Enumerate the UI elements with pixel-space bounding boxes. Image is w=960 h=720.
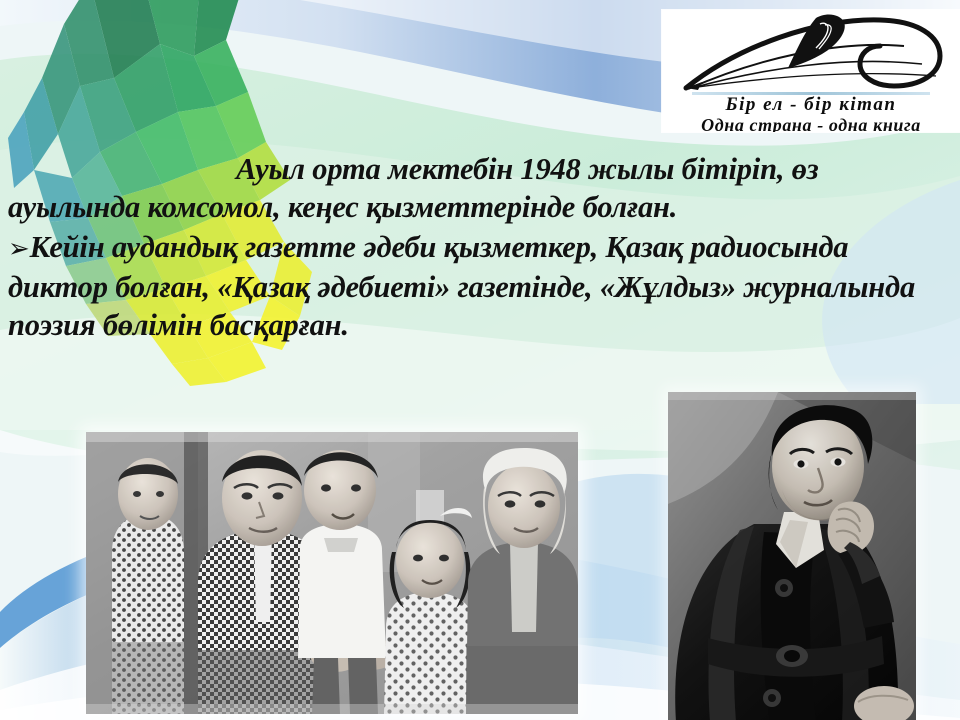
quill-feather-pen-icon — [668, 12, 954, 94]
bir-el-bir-kitap-logo: Бір ел - бір кітап Одна страна - одна кн… — [662, 10, 960, 132]
presentation-slide: Бір ел - бір кітап Одна страна - одна кн… — [0, 0, 960, 720]
arrow-bullet-icon: ➢ — [8, 234, 30, 263]
vintage-portrait-photograph — [668, 392, 916, 720]
paragraph-one: Ауыл орта мектебін 1948 жылы бітіріп, өз… — [8, 150, 938, 226]
slide-body-text: Ауыл орта мектебін 1948 жылы бітіріп, өз… — [8, 150, 938, 344]
vintage-family-photograph: www.k-tik.kz — [86, 432, 578, 714]
logo-text-russian: Одна страна - одна книга — [662, 115, 960, 132]
paragraph-two: ➢Кейін аудандық газетте әдеби қызметкер,… — [8, 228, 938, 344]
logo-text-kazakh: Бір ел - бір кітап — [662, 94, 960, 116]
paragraph-two-text: Кейін аудандық газетте әдеби қызметкер, … — [8, 230, 915, 342]
